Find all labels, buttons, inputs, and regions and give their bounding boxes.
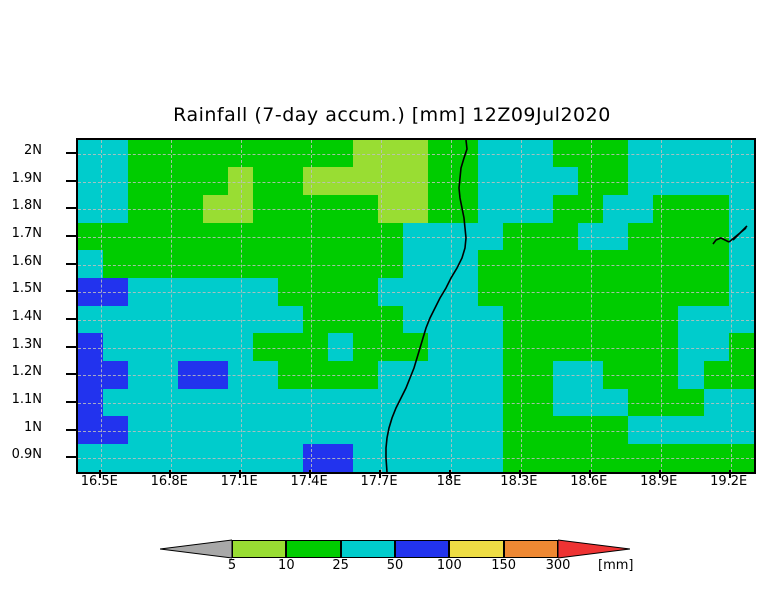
heatmap-cell bbox=[328, 223, 354, 251]
x-tick-label: 18E bbox=[409, 474, 489, 489]
heatmap-cell bbox=[178, 416, 204, 444]
y-tick-mark bbox=[66, 429, 76, 431]
heatmap-cell bbox=[303, 444, 329, 472]
heatmap-cell bbox=[303, 195, 329, 223]
heatmap-cell bbox=[378, 444, 404, 472]
heatmap-cell bbox=[278, 389, 304, 417]
heatmap-cell bbox=[653, 306, 679, 334]
heatmap-cell bbox=[628, 444, 654, 472]
heatmap-cell bbox=[453, 333, 479, 361]
heatmap-cell bbox=[403, 223, 429, 251]
colorbar-swatch[interactable] bbox=[341, 540, 395, 558]
heatmap-cell bbox=[278, 278, 304, 306]
heatmap-cell bbox=[453, 444, 479, 472]
y-tick-mark bbox=[66, 346, 76, 348]
heatmap-cell bbox=[503, 416, 529, 444]
y-tick-label: 1N bbox=[24, 420, 42, 435]
heatmap-cell bbox=[78, 223, 103, 251]
heatmap-cell bbox=[478, 195, 504, 223]
heatmap-cell bbox=[378, 389, 404, 417]
heatmap-cell bbox=[704, 416, 730, 444]
heatmap-cell bbox=[453, 223, 479, 251]
heatmap-cell bbox=[653, 223, 679, 251]
heatmap-cell bbox=[103, 140, 129, 168]
heatmap-cell bbox=[603, 389, 629, 417]
x-tick-label: 16.5E bbox=[59, 474, 139, 489]
heatmap-cell bbox=[478, 306, 504, 334]
heatmap-cell bbox=[303, 306, 329, 334]
heatmap-cell bbox=[528, 389, 554, 417]
y-tick-label: 1.3N bbox=[12, 337, 42, 352]
heatmap-cell bbox=[228, 167, 254, 195]
heatmap-cell bbox=[203, 306, 229, 334]
heatmap-cell bbox=[403, 444, 429, 472]
heatmap-cell bbox=[478, 444, 504, 472]
heatmap-cell bbox=[603, 250, 629, 278]
heatmap-cell bbox=[303, 333, 329, 361]
heatmap-cell bbox=[603, 333, 629, 361]
heatmap-cell bbox=[328, 361, 354, 389]
heatmap-cell bbox=[128, 333, 154, 361]
heatmap-cell bbox=[653, 389, 679, 417]
heatmap-cell bbox=[578, 250, 604, 278]
heatmap-cell bbox=[478, 250, 504, 278]
heatmap-cell bbox=[428, 444, 454, 472]
heatmap-cell bbox=[628, 333, 654, 361]
heatmap-cell bbox=[103, 333, 129, 361]
heatmap-cell bbox=[729, 140, 754, 168]
heatmap-cell bbox=[178, 250, 204, 278]
colorbar-swatch[interactable] bbox=[504, 540, 558, 558]
heatmap-cell bbox=[328, 167, 354, 195]
heatmap-cell bbox=[228, 278, 254, 306]
heatmap-cell bbox=[178, 195, 204, 223]
heatmap-cell bbox=[729, 195, 754, 223]
heatmap-cell bbox=[253, 416, 279, 444]
y-tick-mark bbox=[66, 373, 76, 375]
heatmap-cell bbox=[203, 167, 229, 195]
heatmap-cell bbox=[478, 389, 504, 417]
heatmap-cell bbox=[253, 361, 279, 389]
heatmap-cell bbox=[228, 140, 254, 168]
colorbar-swatch[interactable] bbox=[449, 540, 503, 558]
heatmap-cell bbox=[228, 444, 254, 472]
heatmap-cell bbox=[378, 223, 404, 251]
heatmap-cell bbox=[353, 250, 379, 278]
colorbar-tick-label: 300 bbox=[533, 558, 583, 573]
heatmap-cell bbox=[178, 167, 204, 195]
heatmap-cell bbox=[103, 361, 129, 389]
heatmap-cell bbox=[128, 361, 154, 389]
heatmap-cell bbox=[678, 333, 704, 361]
heatmap-cell bbox=[729, 333, 754, 361]
heatmap-cell bbox=[328, 444, 354, 472]
heatmap-cell bbox=[428, 167, 454, 195]
heatmap-cell bbox=[178, 361, 204, 389]
heatmap-cell bbox=[278, 306, 304, 334]
heatmap-cell bbox=[253, 278, 279, 306]
heatmap-cell bbox=[678, 223, 704, 251]
y-tick-mark bbox=[66, 180, 76, 182]
heatmap-cell bbox=[704, 250, 730, 278]
heatmap-cell bbox=[403, 306, 429, 334]
heatmap-cell bbox=[678, 444, 704, 472]
heatmap-cell bbox=[253, 223, 279, 251]
heatmap-cell bbox=[278, 333, 304, 361]
heatmap-cell bbox=[378, 416, 404, 444]
heatmap-cell bbox=[278, 140, 304, 168]
y-tick-mark bbox=[66, 290, 76, 292]
heatmap-cell bbox=[503, 223, 529, 251]
heatmap-cell bbox=[428, 389, 454, 417]
heatmap-cell bbox=[428, 333, 454, 361]
heatmap-cell bbox=[704, 195, 730, 223]
heatmap-cell bbox=[378, 167, 404, 195]
heatmap-cell bbox=[704, 167, 730, 195]
heatmap-grid bbox=[78, 140, 754, 472]
heatmap-cell bbox=[578, 416, 604, 444]
heatmap-cell bbox=[603, 444, 629, 472]
heatmap-cell bbox=[678, 361, 704, 389]
heatmap-cell bbox=[103, 195, 129, 223]
heatmap-cell bbox=[328, 416, 354, 444]
heatmap-cell bbox=[729, 278, 754, 306]
heatmap-cell bbox=[353, 306, 379, 334]
heatmap-cell bbox=[628, 361, 654, 389]
heatmap-cell bbox=[578, 223, 604, 251]
heatmap-cell bbox=[553, 306, 579, 334]
heatmap-cell bbox=[503, 361, 529, 389]
heatmap-cell bbox=[78, 361, 103, 389]
heatmap-cell bbox=[628, 278, 654, 306]
x-tick-label: 17.1E bbox=[199, 474, 279, 489]
heatmap-cell bbox=[153, 361, 179, 389]
heatmap-cell bbox=[678, 195, 704, 223]
heatmap-cell bbox=[103, 223, 129, 251]
heatmap-cell bbox=[729, 361, 754, 389]
heatmap-cell bbox=[153, 250, 179, 278]
y-tick-label: 1.6N bbox=[12, 254, 42, 269]
heatmap-cell bbox=[278, 195, 304, 223]
heatmap-cell bbox=[328, 140, 354, 168]
heatmap-cell bbox=[428, 361, 454, 389]
heatmap-cell bbox=[503, 333, 529, 361]
heatmap-cell bbox=[353, 223, 379, 251]
heatmap-cell bbox=[78, 278, 103, 306]
heatmap-cell bbox=[203, 140, 229, 168]
heatmap-cell bbox=[603, 416, 629, 444]
heatmap-cell bbox=[253, 306, 279, 334]
heatmap-cell bbox=[178, 444, 204, 472]
heatmap-cell bbox=[478, 167, 504, 195]
heatmap-cell bbox=[378, 278, 404, 306]
heatmap-cell bbox=[403, 278, 429, 306]
colorbar-tick-label: 25 bbox=[316, 558, 366, 573]
heatmap-cell bbox=[228, 195, 254, 223]
heatmap-cell bbox=[278, 416, 304, 444]
heatmap-cell bbox=[203, 333, 229, 361]
heatmap-cell bbox=[253, 167, 279, 195]
heatmap-cell bbox=[453, 389, 479, 417]
heatmap-cell bbox=[78, 389, 103, 417]
heatmap-cell bbox=[578, 195, 604, 223]
heatmap-cell bbox=[303, 140, 329, 168]
heatmap-cell bbox=[428, 223, 454, 251]
heatmap-cell bbox=[153, 167, 179, 195]
heatmap-cell bbox=[203, 250, 229, 278]
heatmap-cell bbox=[729, 306, 754, 334]
heatmap-cell bbox=[378, 195, 404, 223]
heatmap-cell bbox=[378, 361, 404, 389]
heatmap-cell bbox=[303, 389, 329, 417]
heatmap-cell bbox=[729, 389, 754, 417]
heatmap-cell bbox=[153, 223, 179, 251]
heatmap-cell bbox=[503, 444, 529, 472]
heatmap-cell bbox=[78, 444, 103, 472]
y-tick-mark bbox=[66, 401, 76, 403]
heatmap-cell bbox=[103, 250, 129, 278]
heatmap-cell bbox=[678, 278, 704, 306]
heatmap-cell bbox=[178, 278, 204, 306]
heatmap-cell bbox=[278, 361, 304, 389]
y-tick-label: 1.2N bbox=[12, 364, 42, 379]
heatmap-cell bbox=[78, 195, 103, 223]
heatmap-cell bbox=[128, 416, 154, 444]
heatmap-cell bbox=[528, 195, 554, 223]
heatmap-cell bbox=[403, 333, 429, 361]
heatmap-cell bbox=[253, 140, 279, 168]
heatmap-cell bbox=[503, 250, 529, 278]
heatmap-cell bbox=[503, 306, 529, 334]
heatmap-cell bbox=[528, 333, 554, 361]
heatmap-cell bbox=[578, 140, 604, 168]
heatmap-cell bbox=[578, 361, 604, 389]
heatmap-cell bbox=[453, 361, 479, 389]
heatmap-cell bbox=[353, 389, 379, 417]
heatmap-cell bbox=[453, 306, 479, 334]
heatmap-cell bbox=[353, 444, 379, 472]
heatmap-cell bbox=[528, 306, 554, 334]
heatmap-cell bbox=[478, 416, 504, 444]
heatmap-cell bbox=[278, 250, 304, 278]
heatmap-cell bbox=[153, 444, 179, 472]
heatmap-cell bbox=[704, 223, 730, 251]
heatmap-cell bbox=[453, 278, 479, 306]
heatmap-cell bbox=[553, 250, 579, 278]
y-tick-label: 1.5N bbox=[12, 281, 42, 296]
chart-page: Rainfall (7-day accum.) [mm] 12Z09Jul202… bbox=[0, 0, 784, 612]
heatmap-cell bbox=[228, 306, 254, 334]
heatmap-cell bbox=[453, 140, 479, 168]
heatmap-cell bbox=[704, 333, 730, 361]
heatmap-cell bbox=[378, 140, 404, 168]
colorbar-extend-low bbox=[160, 538, 232, 560]
heatmap-cell bbox=[478, 333, 504, 361]
heatmap-cell bbox=[553, 167, 579, 195]
heatmap-cell bbox=[303, 278, 329, 306]
heatmap-cell bbox=[678, 416, 704, 444]
y-tick-mark bbox=[66, 456, 76, 458]
heatmap-cell bbox=[253, 250, 279, 278]
y-tick-mark bbox=[66, 152, 76, 154]
colorbar-swatch[interactable] bbox=[232, 540, 286, 558]
heatmap-cell bbox=[653, 444, 679, 472]
heatmap-cell bbox=[403, 361, 429, 389]
heatmap-cell bbox=[203, 416, 229, 444]
y-tick-label: 1.8N bbox=[12, 198, 42, 213]
heatmap-cell bbox=[353, 333, 379, 361]
x-tick-label: 17.7E bbox=[339, 474, 419, 489]
heatmap-cell bbox=[78, 416, 103, 444]
heatmap-cell bbox=[503, 195, 529, 223]
heatmap-cell bbox=[253, 333, 279, 361]
colorbar-tick-label: 150 bbox=[479, 558, 529, 573]
heatmap-cell bbox=[103, 167, 129, 195]
plot-area[interactable] bbox=[76, 138, 756, 474]
x-tick-label: 16.8E bbox=[129, 474, 209, 489]
heatmap-cell bbox=[128, 389, 154, 417]
heatmap-cell bbox=[603, 306, 629, 334]
heatmap-cell bbox=[328, 195, 354, 223]
heatmap-cell bbox=[228, 333, 254, 361]
colorbar-swatch[interactable] bbox=[395, 540, 449, 558]
y-tick-mark bbox=[66, 263, 76, 265]
heatmap-cell bbox=[78, 333, 103, 361]
heatmap-cell bbox=[678, 140, 704, 168]
colorbar[interactable] bbox=[160, 538, 630, 560]
colorbar-swatch[interactable] bbox=[286, 540, 340, 558]
y-tick-mark bbox=[66, 207, 76, 209]
heatmap-cell bbox=[678, 167, 704, 195]
x-tick-label: 18.6E bbox=[549, 474, 629, 489]
heatmap-cell bbox=[628, 250, 654, 278]
heatmap-cell bbox=[153, 140, 179, 168]
colorbar-units-label: [mm] bbox=[598, 558, 633, 573]
heatmap-cell bbox=[578, 167, 604, 195]
y-tick-label: 0.9N bbox=[12, 447, 42, 462]
heatmap-cell bbox=[303, 416, 329, 444]
heatmap-cell bbox=[528, 140, 554, 168]
heatmap-cell bbox=[128, 306, 154, 334]
heatmap-cell bbox=[103, 416, 129, 444]
heatmap-cell bbox=[153, 333, 179, 361]
heatmap-cell bbox=[578, 444, 604, 472]
heatmap-cell bbox=[528, 167, 554, 195]
heatmap-cell bbox=[328, 333, 354, 361]
heatmap-cell bbox=[603, 140, 629, 168]
heatmap-cell bbox=[403, 195, 429, 223]
heatmap-cell bbox=[328, 250, 354, 278]
heatmap-cell bbox=[203, 223, 229, 251]
heatmap-cell bbox=[553, 444, 579, 472]
heatmap-cell bbox=[353, 416, 379, 444]
heatmap-cell bbox=[228, 416, 254, 444]
colorbar-tick-label: 50 bbox=[370, 558, 420, 573]
heatmap-cell bbox=[628, 306, 654, 334]
heatmap-cell bbox=[378, 250, 404, 278]
heatmap-cell bbox=[353, 167, 379, 195]
heatmap-cell bbox=[553, 361, 579, 389]
heatmap-cell bbox=[203, 278, 229, 306]
heatmap-cell bbox=[729, 416, 754, 444]
heatmap-cell bbox=[228, 361, 254, 389]
heatmap-cell bbox=[178, 306, 204, 334]
heatmap-cell bbox=[303, 361, 329, 389]
heatmap-cell bbox=[78, 140, 103, 168]
colorbar-extend-high bbox=[558, 538, 630, 560]
heatmap-cell bbox=[328, 389, 354, 417]
y-tick-label: 1.7N bbox=[12, 226, 42, 241]
heatmap-cell bbox=[453, 416, 479, 444]
heatmap-cell bbox=[553, 195, 579, 223]
heatmap-cell bbox=[403, 389, 429, 417]
y-tick-label: 2N bbox=[24, 143, 42, 158]
heatmap-cell bbox=[603, 167, 629, 195]
heatmap-cell bbox=[428, 140, 454, 168]
heatmap-cell bbox=[628, 195, 654, 223]
heatmap-cell bbox=[178, 140, 204, 168]
heatmap-cell bbox=[178, 389, 204, 417]
x-tick-label: 18.9E bbox=[619, 474, 699, 489]
y-tick-label: 1.4N bbox=[12, 309, 42, 324]
x-tick-label: 17.4E bbox=[269, 474, 349, 489]
heatmap-cell bbox=[128, 278, 154, 306]
heatmap-cell bbox=[653, 167, 679, 195]
heatmap-cell bbox=[653, 416, 679, 444]
heatmap-cell bbox=[203, 389, 229, 417]
heatmap-cell bbox=[153, 389, 179, 417]
heatmap-cell bbox=[578, 278, 604, 306]
heatmap-cell bbox=[729, 250, 754, 278]
heatmap-cell bbox=[403, 416, 429, 444]
heatmap-cell bbox=[503, 140, 529, 168]
colorbar-tick-label: 10 bbox=[261, 558, 311, 573]
heatmap-cell bbox=[478, 278, 504, 306]
heatmap-cell bbox=[553, 416, 579, 444]
heatmap-cell bbox=[553, 223, 579, 251]
heatmap-cell bbox=[603, 278, 629, 306]
heatmap-cell bbox=[103, 306, 129, 334]
colorbar-tick-label: 100 bbox=[424, 558, 474, 573]
heatmap-cell bbox=[303, 250, 329, 278]
x-tick-label: 19.2E bbox=[689, 474, 769, 489]
heatmap-cell bbox=[553, 278, 579, 306]
heatmap-cell bbox=[678, 306, 704, 334]
heatmap-cell bbox=[528, 416, 554, 444]
heatmap-cell bbox=[353, 195, 379, 223]
y-tick-label: 1.1N bbox=[12, 392, 42, 407]
heatmap-cell bbox=[503, 167, 529, 195]
heatmap-cell bbox=[428, 250, 454, 278]
heatmap-cell bbox=[628, 416, 654, 444]
heatmap-cell bbox=[253, 195, 279, 223]
heatmap-cell bbox=[278, 167, 304, 195]
heatmap-cell bbox=[553, 140, 579, 168]
heatmap-cell bbox=[428, 195, 454, 223]
heatmap-cell bbox=[128, 140, 154, 168]
heatmap-cell bbox=[704, 361, 730, 389]
heatmap-cell bbox=[653, 333, 679, 361]
heatmap-cell bbox=[303, 223, 329, 251]
heatmap-cell bbox=[428, 278, 454, 306]
heatmap-cell bbox=[729, 444, 754, 472]
heatmap-cell bbox=[578, 306, 604, 334]
page-title: Rainfall (7-day accum.) [mm] 12Z09Jul202… bbox=[0, 104, 784, 126]
heatmap-cell bbox=[128, 444, 154, 472]
y-tick-mark bbox=[66, 235, 76, 237]
heatmap-cell bbox=[128, 195, 154, 223]
heatmap-cell bbox=[203, 444, 229, 472]
